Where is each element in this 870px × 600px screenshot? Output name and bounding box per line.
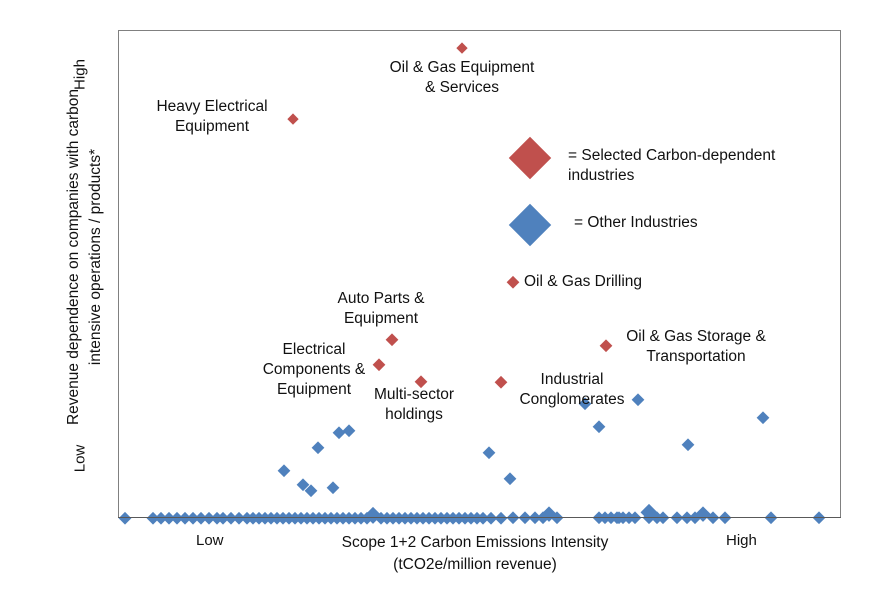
data-point-selected-carbon-dependent [287,113,298,124]
legend-swatch-wrapper [508,136,568,182]
chart-legend: = Selected Carbon-dependent industries =… [508,136,838,249]
data-point-other-industries [482,446,495,459]
data-point-other-industries [756,411,769,424]
data-point-selected-carbon-dependent [495,376,507,388]
data-point-other-industries [592,420,605,433]
annotation-multi-sector-holdings: Multi-sector holdings [362,385,466,425]
data-point-other-industries [681,438,694,451]
blue-diamond-icon [509,204,551,246]
data-point-other-industries [503,472,516,485]
y-axis-tick-high: High [72,45,89,105]
data-point-other-industries [277,464,290,477]
x-axis-tick-low: Low [196,532,224,549]
data-point-other-industries [718,511,731,524]
x-axis-tick-high: High [726,532,757,549]
data-point-selected-carbon-dependent [456,42,467,53]
data-point-other-industries [495,512,507,524]
x-axis-title: Scope 1+2 Carbon Emissions Intensity (tC… [255,532,695,577]
y-axis-tick-low: Low [72,429,89,489]
data-point-selected-carbon-dependent [385,333,398,346]
annotation-oil-gas-storage-transportation: Oil & Gas Storage & Transportation [616,327,776,367]
data-point-other-industries [311,441,324,454]
data-point-other-industries [119,512,131,524]
legend-swatch-wrapper [508,203,568,249]
data-point-other-industries [764,511,777,524]
data-point-selected-carbon-dependent [507,276,519,288]
annotation-oil-gas-drilling: Oil & Gas Drilling [524,272,664,292]
data-point-other-industries [326,481,339,494]
annotation-auto-parts-equipment: Auto Parts & Equipment [322,289,440,329]
annotation-heavy-electrical-equipment: Heavy Electrical Equipment [148,97,276,137]
data-point-selected-carbon-dependent [372,358,385,371]
data-point-selected-carbon-dependent [599,339,612,352]
legend-label-selected-carbon-dependent: = Selected Carbon-dependent industries [568,136,775,187]
legend-label-other-industries: = Other Industries [568,203,698,233]
red-diamond-icon [509,137,551,179]
x-axis-line [118,517,841,518]
data-point-other-industries [342,424,355,437]
annotation-industrial-conglomerates: Industrial Conglomerates [512,370,632,410]
annotation-electrical-components-equipment: Electrical Components & Equipment [254,340,374,400]
annotation-oil-gas-equipment-services: Oil & Gas Equipment & Services [372,58,552,98]
legend-item-other-industries: = Other Industries [508,203,838,249]
data-point-other-industries [631,393,644,406]
legend-item-selected-carbon-dependent: = Selected Carbon-dependent industries [508,136,838,187]
data-point-other-industries [812,511,825,524]
